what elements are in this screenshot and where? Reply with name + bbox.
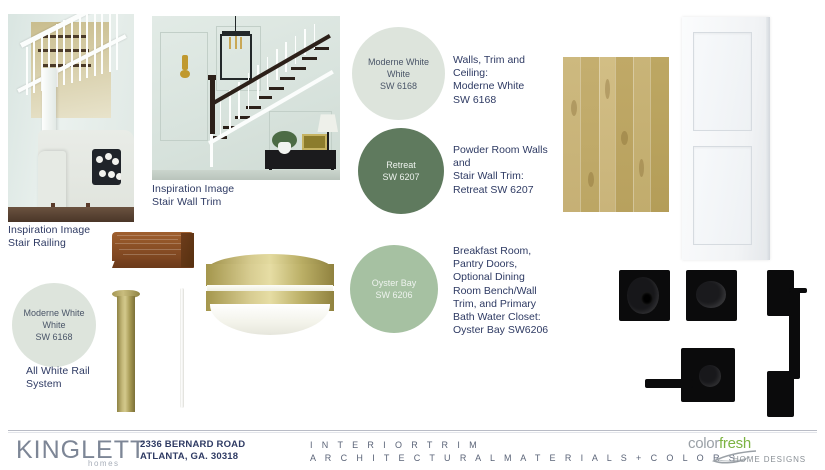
spec-line: Pantry Doors,: [453, 258, 563, 271]
spec-line: Trim, and Primary: [453, 298, 563, 311]
spec-line: SW 6168: [453, 94, 563, 107]
paint-swatch-oyster-bay[interactable]: Oyster Bay SW 6206: [350, 245, 438, 333]
caption-all-white-rail-system: All White Rail System: [26, 365, 90, 391]
address-line-1: 2336 BERNARD ROAD: [140, 439, 245, 451]
tagline-line-1: I N T E R I O R T R I M: [310, 439, 738, 452]
footer-divider: [8, 430, 817, 431]
paint-swatch-moderne-white[interactable]: Moderne White White SW 6168: [352, 27, 445, 120]
matte-black-knob: [686, 270, 737, 321]
spec-line: Retreat SW 6207: [453, 184, 568, 197]
inspiration-image-stair-railing: [8, 14, 134, 222]
swatch-code: SW 6206: [375, 289, 412, 301]
footer-address: 2336 BERNARD ROAD ATLANTA, GA. 30318: [140, 439, 245, 463]
caption-line-2: Stair Railing: [8, 237, 90, 250]
caption-line-1: Inspiration Image: [152, 183, 234, 196]
inspiration-image-stair-wall-trim: [152, 16, 340, 180]
spec-retreat: Powder Room Walls and Stair Wall Trim: R…: [453, 144, 568, 197]
caption-line-1: Inspiration Image: [8, 224, 90, 237]
swatch-name: Retreat: [386, 159, 416, 171]
swatch-name: Oyster Bay: [372, 277, 417, 289]
kinglett-logo: KINGLETT: [16, 436, 146, 465]
spec-line: Moderne White: [453, 80, 563, 93]
spec-line: Walls, Trim and: [453, 54, 563, 67]
colorfresh-home-designs-text: HOME DESIGNS: [733, 455, 806, 464]
spec-line: Bath Water Closet:: [453, 311, 563, 324]
swatch-name-2: White: [42, 319, 65, 331]
spec-oyster-bay: Breakfast Room, Pantry Doors, Optional D…: [453, 245, 563, 337]
swatch-name-2: White: [387, 68, 410, 80]
light-oak-flooring-sample: [563, 57, 669, 212]
swatch-code: SW 6207: [382, 171, 419, 183]
spec-line: Room Bench/Wall: [453, 285, 563, 298]
spec-line: Optional Dining: [453, 271, 563, 284]
caption-inspiration-stair-wall-trim: Inspiration Image Stair Wall Trim: [152, 183, 234, 209]
spec-line: Oyster Bay SW6206: [453, 324, 563, 337]
kinglett-logo-sub: homes: [88, 459, 120, 468]
matte-black-lever: [681, 348, 735, 402]
brass-newel-post: [117, 296, 135, 412]
caption-line-1: All White Rail: [26, 365, 90, 378]
spec-line: Breakfast Room,: [453, 245, 563, 258]
door-upper-panel: [693, 32, 753, 132]
footer-divider-secondary: [8, 432, 817, 433]
handleset-grip: [789, 291, 800, 376]
white-two-panel-shaker-door: [682, 17, 770, 260]
swatch-code: SW 6168: [380, 80, 417, 92]
mood-board: Inspiration Image Stair Railing: [0, 0, 825, 470]
door-lower-panel: [693, 146, 753, 246]
paint-swatch-retreat[interactable]: Retreat SW 6207: [358, 128, 444, 214]
spec-line: Powder Room Walls: [453, 144, 568, 157]
spec-line: Stair Wall Trim:: [453, 170, 568, 183]
caption-line-2: System: [26, 378, 90, 391]
spec-moderne-white: Walls, Trim and Ceiling: Moderne White S…: [453, 54, 563, 107]
swatch-name: Moderne White: [368, 56, 429, 68]
spec-line: and: [453, 157, 568, 170]
paint-swatch-moderne-white-rail[interactable]: Moderne White White SW 6168: [12, 283, 96, 367]
caption-line-2: Stair Wall Trim: [152, 196, 234, 209]
address-line-2: ATLANTA, GA. 30318: [140, 451, 245, 463]
swatch-name: Moderne White: [23, 307, 84, 319]
handleset-grip-return: [789, 371, 800, 379]
caption-inspiration-stair-railing: Inspiration Image Stair Railing: [8, 224, 90, 250]
spec-line: Ceiling:: [453, 67, 563, 80]
swatch-code: SW 6168: [35, 331, 72, 343]
white-baluster: [180, 288, 184, 408]
light-fixture-body: [206, 254, 334, 338]
tagline-line-2: A R C H I T E C T U R A L M A T E R I A …: [310, 452, 738, 465]
matte-black-deadbolt: [619, 270, 670, 321]
lever-arm: [645, 379, 693, 388]
footer-tagline: I N T E R I O R T R I M A R C H I T E C …: [310, 439, 738, 465]
wood-handrail-sample: [112, 232, 194, 268]
